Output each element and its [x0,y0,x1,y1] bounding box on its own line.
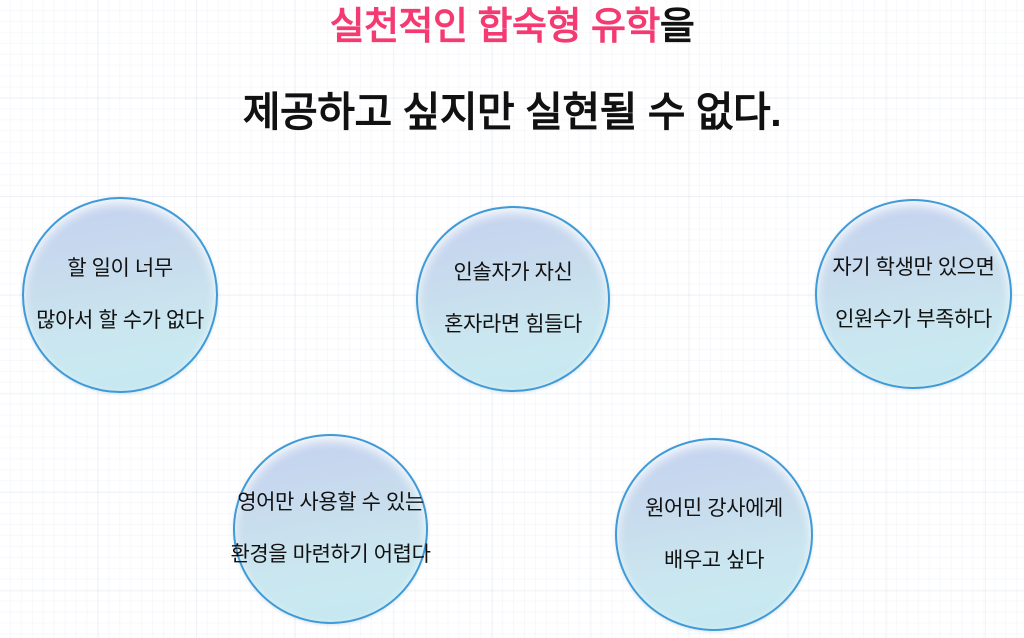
bubble-label-3-line-2: 인원수가 부족하다 [764,294,1024,346]
bubble-label-2-line-1: 인솔자가 자신 [363,247,663,299]
bubble-shape-4: 영어만 사용할 수 있는 환경을 마련하기 어렵다 [233,434,428,624]
page-title-plain-text: 을 [660,6,694,48]
bubble-label-1-line-2: 많아서 할 수가 없다 [0,295,270,347]
bubble-label-2-line-2: 혼자라면 힘들다 [363,299,663,351]
bubble-shape-5: 원어민 강사에게 배우고 싶다 [615,438,813,631]
slide-canvas: 실천적인 합숙형 유학을 제공하고 싶지만 실현될 수 없다. 할 일이 너무 … [0,0,1024,638]
bubble-label-2: 인솔자가 자신 혼자라면 힘들다 [363,247,663,351]
bubble-label-1: 할 일이 너무 많아서 할 수가 없다 [0,243,270,347]
page-title-accent-text: 실천적인 합숙형 유학 [330,6,660,48]
bubble-label-1-line-1: 할 일이 너무 [0,243,270,295]
bubble-label-4: 영어만 사용할 수 있는 환경을 마련하기 어렵다 [181,477,481,581]
bubble-shape-3: 자기 학생만 있으면 인원수가 부족하다 [815,199,1012,389]
bubble-label-5: 원어민 강사에게 배우고 싶다 [564,483,864,587]
bubble-label-5-line-1: 원어민 강사에게 [564,483,864,535]
bubble-label-3: 자기 학생만 있으면 인원수가 부족하다 [764,242,1024,346]
page-title-line-1: 실천적인 합숙형 유학을 [0,4,1024,50]
bubble-label-3-line-1: 자기 학생만 있으면 [764,242,1024,294]
bubble-shape-2: 인솔자가 자신 혼자라면 힘들다 [416,206,610,392]
page-title-line-2: 제공하고 싶지만 실현될 수 없다. [0,88,1024,136]
bubble-label-4-line-1: 영어만 사용할 수 있는 [181,477,481,529]
bubble-label-5-line-2: 배우고 싶다 [564,535,864,587]
bubble-label-4-line-2: 환경을 마련하기 어렵다 [181,529,481,581]
bubble-shape-1: 할 일이 너무 많아서 할 수가 없다 [22,197,218,393]
